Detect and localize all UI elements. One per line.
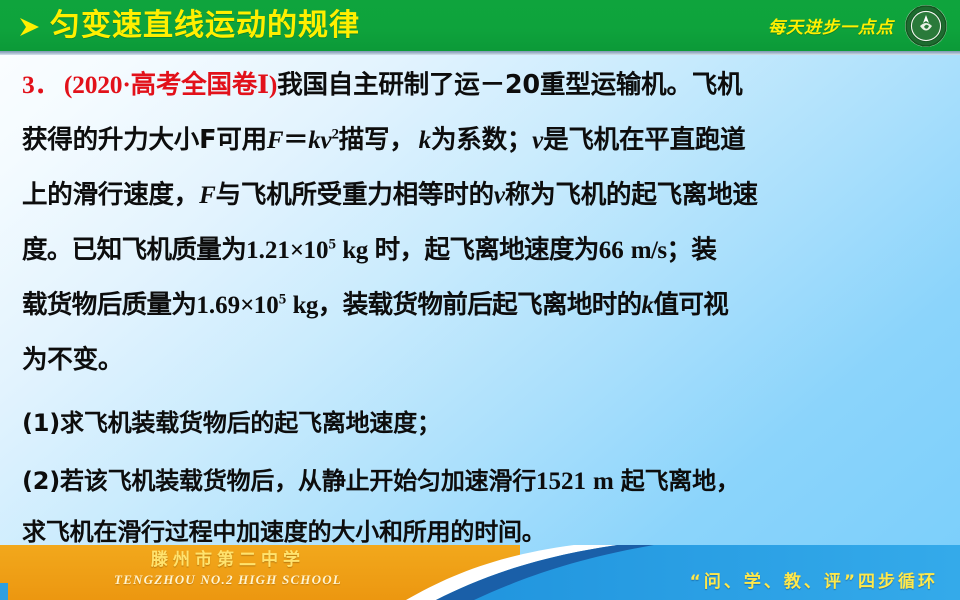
formula-equals: ＝	[283, 127, 308, 154]
question-line-3: 上的滑行速度，F与飞机所受重力相等时的v称为飞机的起飞离地速	[0, 168, 960, 223]
question-line-2-b: 描写，	[339, 125, 415, 155]
question-line-5-a: 载货物后质量为	[22, 290, 196, 320]
question-line-3-b: 与飞机所受重力相等时的	[216, 180, 494, 210]
var-v-2: v	[494, 182, 505, 209]
formula-v: v	[321, 127, 332, 154]
question-part-2-b: 起飞离地，	[621, 467, 740, 495]
slide-footer: 滕州市第二中学 TENGZHOU NO.2 HIGH SCHOOL “问、学、教…	[0, 545, 960, 600]
power-exponent-2: 5	[279, 292, 286, 308]
question-line-4-a: 度。已知飞机质量为	[22, 235, 246, 265]
header-divider-line	[0, 51, 960, 55]
question-line-4-c: ；装	[666, 235, 716, 265]
formula-exponent: 2	[331, 127, 338, 143]
question-line-1: 3．(2020·高考全国卷Ⅰ)我国自主研制了运－20重型运输机。飞机	[0, 57, 960, 113]
question-body: 3．(2020·高考全国卷Ⅰ)我国自主研制了运－20重型运输机。飞机 获得的升力…	[0, 57, 960, 557]
question-line-2: 获得的升力大小F可用F＝kv2描写，k为系数；v是飞机在平直跑道	[0, 113, 960, 168]
runway-distance-value: 1521	[536, 468, 586, 495]
question-part-2-a: (2)若该飞机装载货物后，从静止开始匀加速滑行	[22, 467, 536, 495]
power-exponent-1: 5	[329, 237, 336, 253]
footer-background-shape	[0, 545, 960, 600]
var-k-2: k	[642, 292, 654, 319]
school-emblem-icon	[904, 4, 948, 48]
question-line-2-a: 获得的升力大小F可用	[22, 125, 267, 155]
takeoff-speed-value: 66	[599, 237, 624, 264]
question-line-6-text: 为不变。	[22, 345, 123, 375]
question-line-5: 载货物后质量为1.69×105kg，装载货物前后起飞离地时的k值可视	[0, 278, 960, 333]
unit-ms: m/s	[631, 237, 667, 264]
slide-canvas: 匀变速直线运动的规律 每天进步一点点 3．(2020·高考全国卷Ⅰ)我国自主研制…	[0, 0, 960, 600]
question-line-3-a: 上的滑行速度，	[22, 180, 199, 210]
var-v: v	[532, 127, 543, 154]
var-F: F	[199, 182, 215, 209]
question-line-6: 为不变。	[0, 333, 960, 388]
unit-kg-2: kg	[293, 292, 318, 319]
power-base-2: 10	[254, 292, 279, 319]
question-number: 3．	[22, 70, 60, 99]
question-line-3-c: 称为飞机的起飞离地速	[505, 180, 758, 210]
multiplication-sign-2: ×	[240, 292, 254, 319]
question-part-1-text: (1)求飞机装载货物后的起飞离地速度；	[22, 409, 441, 437]
question-part-1: (1)求飞机装载货物后的起飞离地速度；	[0, 398, 960, 448]
slide-header-bar: 匀变速直线运动的规律 每天进步一点点	[0, 0, 960, 51]
question-line-5-c: 值可视	[653, 290, 728, 320]
question-part-2-line-1: (2)若该飞机装载货物后，从静止开始匀加速滑行1521m起飞离地，	[0, 456, 960, 507]
question-line-2-d: 是飞机在平直跑道	[543, 125, 745, 155]
unit-m: m	[593, 468, 614, 495]
formula-k: k	[308, 127, 320, 154]
multiplication-sign: ×	[290, 237, 304, 264]
mass-value-1: 1.21	[246, 237, 290, 264]
mass-value-2: 1.69	[196, 292, 240, 319]
question-part-2-c: 求飞机在滑行过程中加速度的大小和所用的时间。	[22, 518, 546, 546]
question-line-2-c: 为系数；	[431, 125, 532, 155]
question-line-5-b: ，装载货物前后起飞离地时的	[318, 290, 642, 320]
triangle-arrow-icon	[14, 12, 44, 42]
power-base-1: 10	[304, 237, 329, 264]
var-k: k	[419, 127, 431, 154]
question-line-4-b: 时，起飞离地速度为	[375, 235, 599, 265]
question-line-1-text: 我国自主研制了运－20重型运输机。飞机	[277, 70, 742, 100]
unit-kg-1: kg	[342, 237, 367, 264]
question-line-4: 度。已知飞机质量为1.21×105kg时，起飞离地速度为66m/s；装	[0, 223, 960, 278]
header-motto: 每天进步一点点	[768, 13, 894, 38]
page-title: 匀变速直线运动的规律	[50, 9, 360, 43]
question-source: (2020·高考全国卷Ⅰ)	[64, 70, 277, 99]
formula-F: F	[267, 127, 283, 154]
